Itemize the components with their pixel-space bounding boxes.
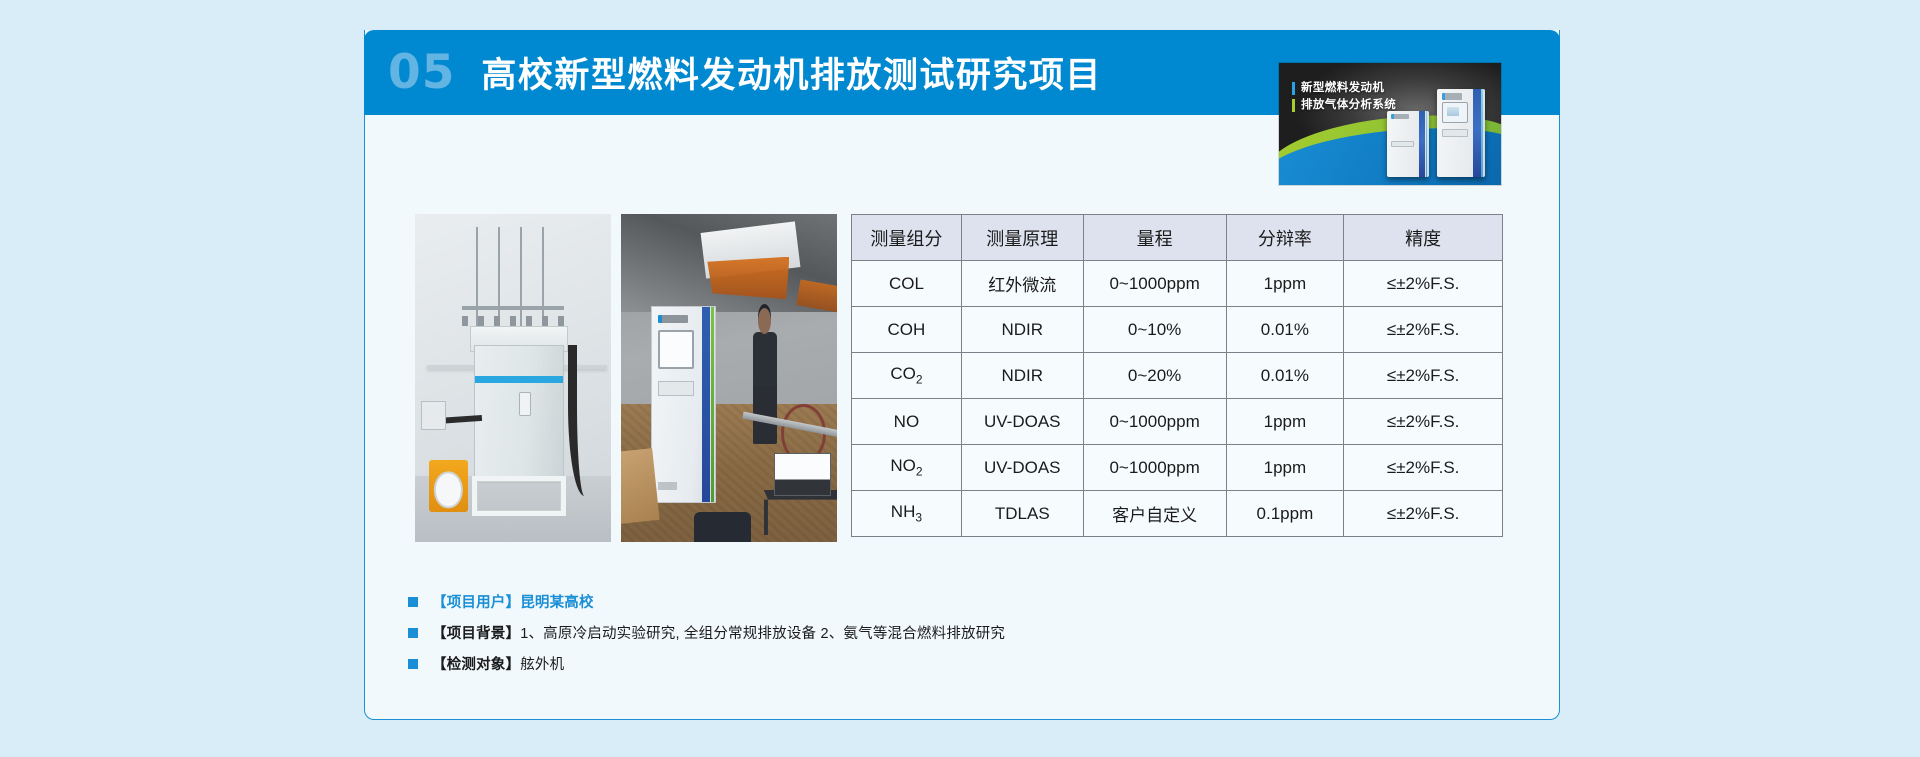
table-row: NH3TDLAS客户自定义0.1ppm≤±2%F.S. [852, 491, 1503, 537]
cell-component: COL [852, 261, 962, 307]
list-item-text: 【项目用户】昆明某高校 [432, 591, 594, 612]
page-title: 高校新型燃料发动机排放测试研究项目 [481, 47, 1102, 98]
cell-range: 0~1000ppm [1083, 261, 1226, 307]
analyzer-cabinet-small [1387, 111, 1429, 177]
subscript: 2 [916, 373, 923, 387]
list-item-label: 【项目用户】 [432, 595, 520, 611]
photo-lab-equipment [415, 214, 611, 542]
cell-accuracy: ≤±2%F.S. [1344, 353, 1503, 399]
cell-range: 0~20% [1083, 353, 1226, 399]
photo-workshop-analyzer [621, 214, 837, 542]
cell-accuracy: ≤±2%F.S. [1344, 307, 1503, 353]
list-item: 【项目用户】昆明某高校 [408, 586, 1005, 617]
cell-range: 0~1000ppm [1083, 445, 1226, 491]
column-header-principle: 测量原理 [961, 215, 1083, 261]
page-root: 05 高校新型燃料发动机排放测试研究项目 新型燃料发动机 排放气体分析系统 [0, 0, 1920, 757]
cell-component: NO2 [852, 445, 962, 491]
bullet-square-icon [408, 659, 418, 669]
banner-caption-line1: 新型燃料发动机 [1301, 80, 1396, 97]
list-item-label: 【项目背景】 [432, 626, 520, 642]
cell-component: COH [852, 307, 962, 353]
column-header-range: 量程 [1083, 215, 1226, 261]
table-header-row: 测量组分 测量原理 量程 分辩率 精度 [852, 215, 1503, 261]
cell-component: CO2 [852, 353, 962, 399]
cell-principle: UV-DOAS [961, 445, 1083, 491]
cell-resolution: 0.1ppm [1226, 491, 1344, 537]
cell-resolution: 1ppm [1226, 261, 1344, 307]
cell-component: NO [852, 399, 962, 445]
column-header-accuracy: 精度 [1344, 215, 1503, 261]
banner-accent-bar-blue [1292, 82, 1295, 95]
cell-principle: 红外微流 [961, 261, 1083, 307]
cell-principle: TDLAS [961, 491, 1083, 537]
list-item-value: 舷外机 [520, 657, 564, 673]
cell-accuracy: ≤±2%F.S. [1344, 491, 1503, 537]
table-body: COL红外微流0~1000ppm1ppm≤±2%F.S.COHNDIR0~10%… [852, 261, 1503, 537]
subscript: 3 [915, 511, 922, 525]
column-header-resolution: 分辩率 [1226, 215, 1344, 261]
cell-range: 0~10% [1083, 307, 1226, 353]
list-item-value: 昆明某高校 [520, 595, 594, 611]
subscript: 2 [916, 465, 923, 479]
cell-resolution: 1ppm [1226, 399, 1344, 445]
cell-resolution: 0.01% [1226, 353, 1344, 399]
bullet-square-icon [408, 597, 418, 607]
banner-caption: 新型燃料发动机 排放气体分析系统 [1301, 80, 1396, 114]
banner-caption-line2: 排放气体分析系统 [1301, 97, 1396, 114]
cell-accuracy: ≤±2%F.S. [1344, 445, 1503, 491]
cell-principle: NDIR [961, 353, 1083, 399]
analyzer-cabinet-large [1437, 89, 1485, 177]
list-item-label: 【检测对象】 [432, 657, 520, 673]
cell-accuracy: ≤±2%F.S. [1344, 399, 1503, 445]
list-item-value: 1、高原冷启动实验研究, 全组分常规排放设备 2、氨气等混合燃料排放研究 [520, 626, 1005, 642]
table-row: NOUV-DOAS0~1000ppm1ppm≤±2%F.S. [852, 399, 1503, 445]
cell-accuracy: ≤±2%F.S. [1344, 261, 1503, 307]
banner-accent-bar-green [1292, 99, 1295, 112]
column-header-component: 测量组分 [852, 215, 962, 261]
section-number: 05 [388, 49, 455, 96]
cell-component: NH3 [852, 491, 962, 537]
table-row: CO2NDIR0~20%0.01%≤±2%F.S. [852, 353, 1503, 399]
list-item-text: 【检测对象】舷外机 [432, 653, 564, 674]
product-banner-image: 新型燃料发动机 排放气体分析系统 [1279, 63, 1501, 185]
cell-range: 客户自定义 [1083, 491, 1226, 537]
table-row: COL红外微流0~1000ppm1ppm≤±2%F.S. [852, 261, 1503, 307]
project-info-list: 【项目用户】昆明某高校【项目背景】1、高原冷启动实验研究, 全组分常规排放设备 … [408, 586, 1005, 679]
list-item-text: 【项目背景】1、高原冷启动实验研究, 全组分常规排放设备 2、氨气等混合燃料排放… [432, 622, 1005, 643]
list-item: 【检测对象】舷外机 [408, 648, 1005, 679]
bullet-square-icon [408, 628, 418, 638]
cell-resolution: 0.01% [1226, 307, 1344, 353]
cell-principle: UV-DOAS [961, 399, 1083, 445]
table-row: NO2UV-DOAS0~1000ppm1ppm≤±2%F.S. [852, 445, 1503, 491]
cell-range: 0~1000ppm [1083, 399, 1226, 445]
table-row: COHNDIR0~10%0.01%≤±2%F.S. [852, 307, 1503, 353]
list-item: 【项目背景】1、高原冷启动实验研究, 全组分常规排放设备 2、氨气等混合燃料排放… [408, 617, 1005, 648]
spec-table: 测量组分 测量原理 量程 分辩率 精度 COL红外微流0~1000ppm1ppm… [851, 214, 1503, 537]
cell-principle: NDIR [961, 307, 1083, 353]
cell-resolution: 1ppm [1226, 445, 1344, 491]
